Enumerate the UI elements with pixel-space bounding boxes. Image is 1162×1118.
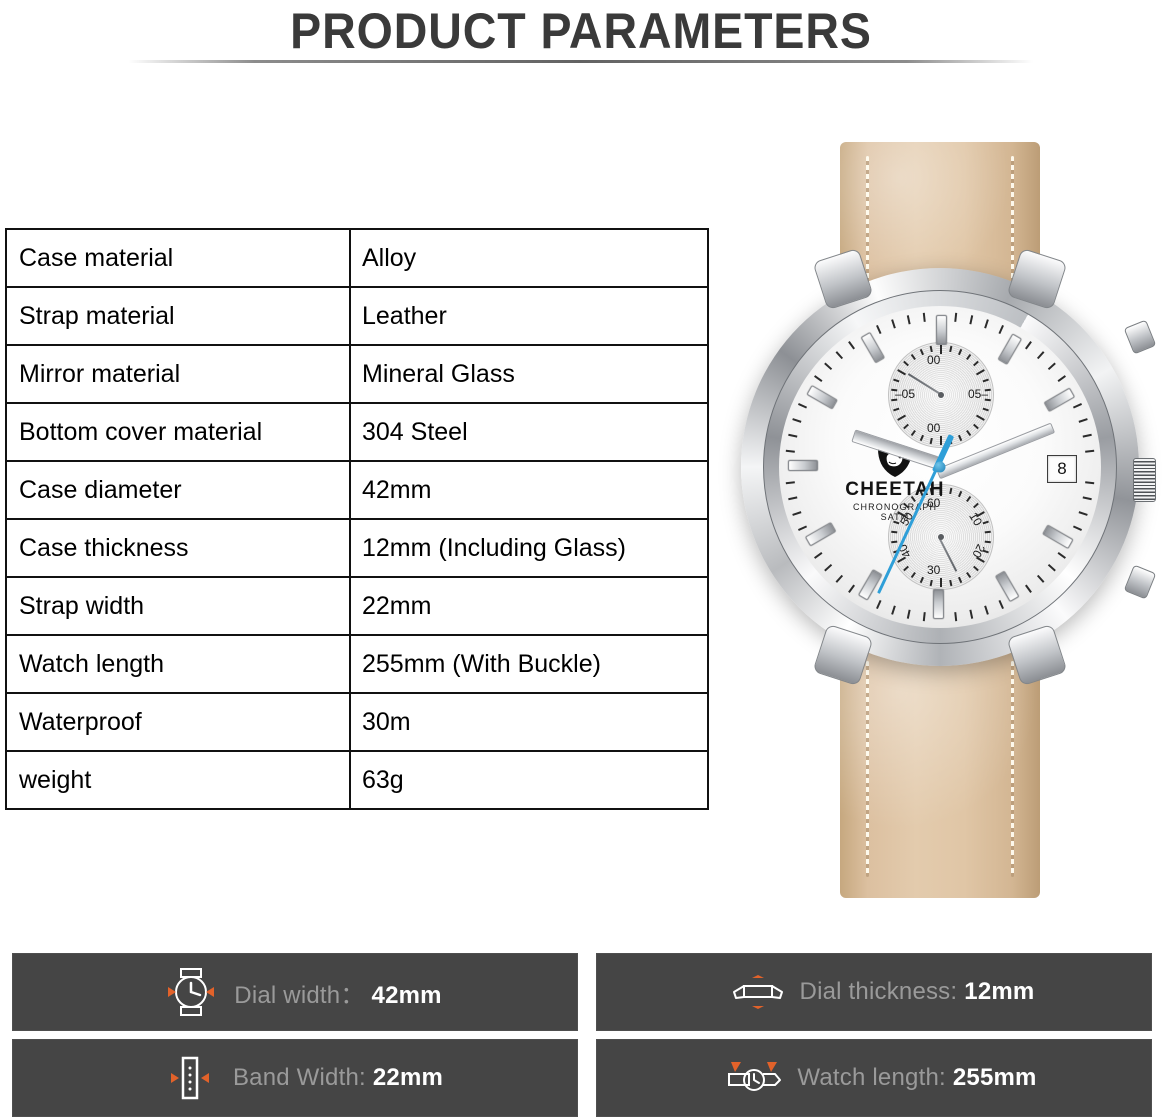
spec-value: Mineral Glass (350, 345, 708, 403)
brand-water-rating: SATM (835, 512, 955, 522)
info-bar-text: Band Width:22mm (233, 1064, 443, 1092)
info-bar-dial-thickness: Dial thickness:12mm (596, 953, 1152, 1031)
spec-key: Mirror material (6, 345, 350, 403)
strap-stitch-right (1011, 661, 1014, 878)
subdial-label: 30 (927, 563, 940, 577)
spec-value: 22mm (350, 577, 708, 635)
spec-key: Strap width (6, 577, 350, 635)
watch-strap-bottom (840, 640, 1040, 898)
page-header: PRODUCT PARAMETERS (0, 0, 1162, 68)
title-divider (128, 60, 1033, 63)
brand-subtitle: CHRONOGRAPH (835, 502, 955, 512)
table-row: Case material Alloy (6, 229, 708, 287)
subdial-label: –05 (895, 387, 915, 401)
table-row: Watch length 255mm (With Buckle) (6, 635, 708, 693)
info-bar-label: Band Width: (233, 1064, 366, 1091)
subdial-pin (938, 534, 944, 540)
info-bar-dial-width: Dial width：42mm (12, 953, 578, 1031)
watch-crown (1133, 458, 1156, 502)
table-row: Strap width 22mm (6, 577, 708, 635)
watch-case: 00 –05 05– 00 60 10 20 30 40 50 (741, 268, 1139, 666)
spec-value: 255mm (With Buckle) (350, 635, 708, 693)
chrono-pusher-top (1124, 320, 1157, 355)
info-bar-text: Watch length:255mm (797, 1064, 1036, 1092)
date-window: 8 (1047, 455, 1077, 483)
watch-product-image: 00 –05 05– 00 60 10 20 30 40 50 (718, 120, 1162, 920)
watch-dial-width-icon (148, 966, 234, 1018)
spec-value: Alloy (350, 229, 708, 287)
chrono-pusher-bottom (1124, 565, 1157, 600)
subdial-hand (938, 537, 957, 572)
table-row: Strap material Leather (6, 287, 708, 345)
subdial-label: 00 (927, 353, 940, 367)
page-title: PRODUCT PARAMETERS (41, 2, 1122, 60)
spec-value: 30m (350, 693, 708, 751)
spec-key: Case thickness (6, 519, 350, 577)
spec-key: Strap material (6, 287, 350, 345)
spec-value: 12mm (Including Glass) (350, 519, 708, 577)
spec-key: Case diameter (6, 461, 350, 519)
spec-value: 42mm (350, 461, 708, 519)
watch-dial: 00 –05 05– 00 60 10 20 30 40 50 (779, 306, 1101, 628)
spec-value: 63g (350, 751, 708, 809)
subdial-pin (938, 392, 944, 398)
info-bar-label: Dial thickness: (800, 978, 958, 1005)
info-bar-label: Dial width： (234, 982, 364, 1009)
table-row: Case diameter 42mm (6, 461, 708, 519)
hands-center-pin (935, 462, 946, 473)
info-bar-text: Dial thickness:12mm (800, 978, 1035, 1006)
table-row: weight 63g (6, 751, 708, 809)
info-bar-value: 255mm (953, 1064, 1037, 1091)
watch-thickness-icon (714, 966, 800, 1018)
watch-total-length-icon (711, 1052, 797, 1104)
watch-band-width-icon (147, 1052, 233, 1104)
table-row: Case thickness 12mm (Including Glass) (6, 519, 708, 577)
subdial-label: 00 (927, 421, 940, 435)
brand-name: CHEETAH (835, 479, 955, 501)
specifications-table: Case material Alloy Strap material Leath… (5, 228, 709, 810)
watch-bezel: 00 –05 05– 00 60 10 20 30 40 50 (763, 290, 1117, 644)
spec-key: weight (6, 751, 350, 809)
strap-stitch-left (866, 661, 869, 878)
info-bar-band-width: Band Width:22mm (12, 1039, 578, 1117)
info-bar-label: Watch length: (797, 1064, 945, 1091)
info-bar-value: 42mm (372, 982, 442, 1009)
spec-value: Leather (350, 287, 708, 345)
info-bar-value: 22mm (373, 1064, 443, 1091)
table-row: Waterproof 30m (6, 693, 708, 751)
spec-key: Bottom cover material (6, 403, 350, 461)
info-bar-text: Dial width：42mm (234, 975, 441, 1010)
info-bar-value: 12mm (964, 978, 1034, 1005)
chrono-subdial-top: 00 –05 05– 00 (888, 342, 994, 448)
info-bar-watch-length: Watch length:255mm (596, 1039, 1152, 1117)
spec-key: Watch length (6, 635, 350, 693)
table-body: Case material Alloy Strap material Leath… (6, 229, 708, 809)
table-row: Bottom cover material 304 Steel (6, 403, 708, 461)
table-row: Mirror material Mineral Glass (6, 345, 708, 403)
spec-value: 304 Steel (350, 403, 708, 461)
spec-key: Waterproof (6, 693, 350, 751)
spec-key: Case material (6, 229, 350, 287)
product-parameters-page: PRODUCT PARAMETERS Case material Alloy S… (0, 0, 1162, 1118)
